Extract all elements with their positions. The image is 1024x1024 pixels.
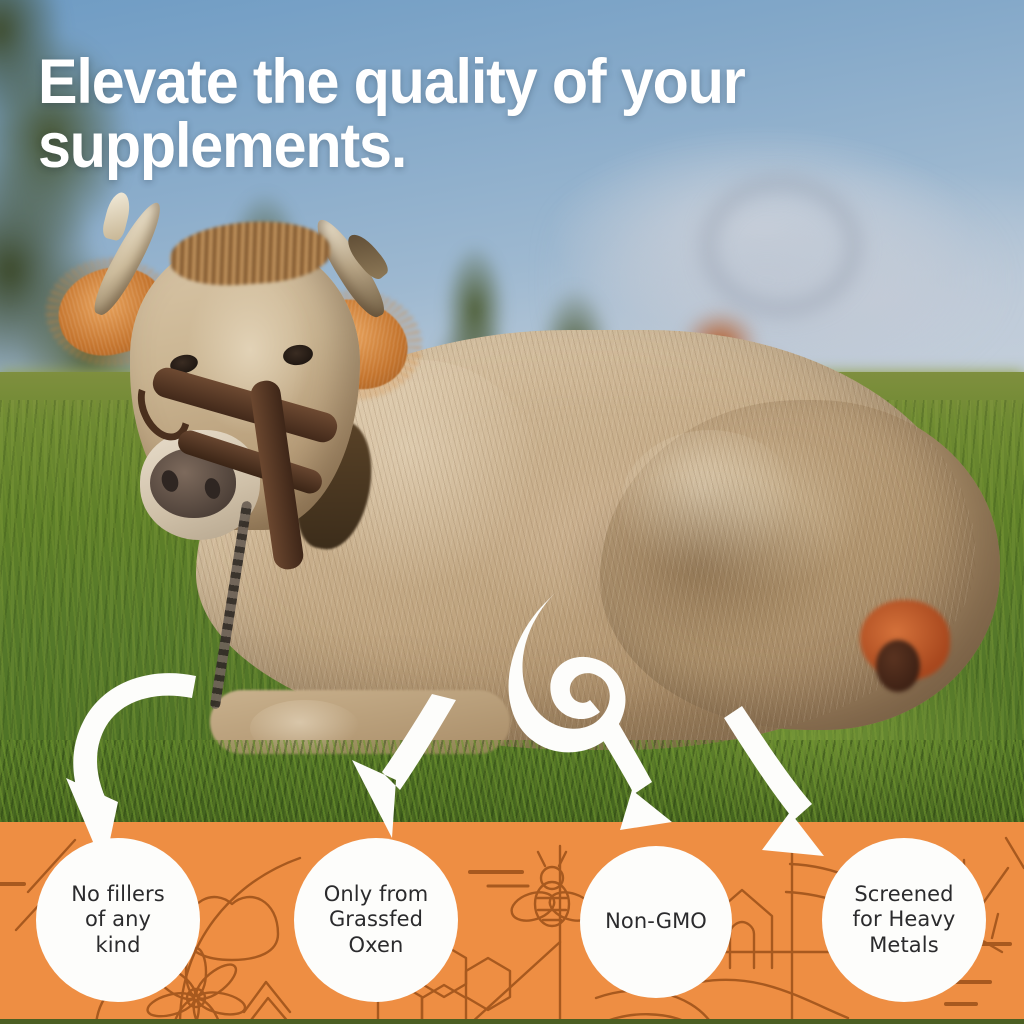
- field-curve-icon: [700, 980, 848, 1018]
- ox-udder-shadow: [876, 640, 920, 692]
- badge-screened-heavy-metals[interactable]: Screened for Heavy Metals: [822, 838, 986, 1002]
- diagonal-line-icon: [1006, 838, 1024, 868]
- field-line-icon: [470, 942, 560, 1024]
- chevron-icon: [244, 982, 290, 1012]
- band-base-strip: [0, 1019, 1024, 1024]
- badge-grassfed-oxen[interactable]: Only from Grassfed Oxen: [294, 838, 458, 1002]
- badge-label: Only from Grassfed Oxen: [324, 882, 429, 959]
- promotional-graphic: Elevate the quality of your supplements.: [0, 0, 1024, 1024]
- badge-label: Screened for Heavy Metals: [853, 882, 956, 959]
- badge-label: Non-GMO: [605, 909, 707, 935]
- badge-label: No fillers of any kind: [71, 882, 165, 959]
- badge-no-fillers[interactable]: No fillers of any kind: [36, 838, 200, 1002]
- badge-non-gmo[interactable]: Non-GMO: [580, 846, 732, 998]
- page-title: Elevate the quality of your supplements.: [38, 50, 865, 179]
